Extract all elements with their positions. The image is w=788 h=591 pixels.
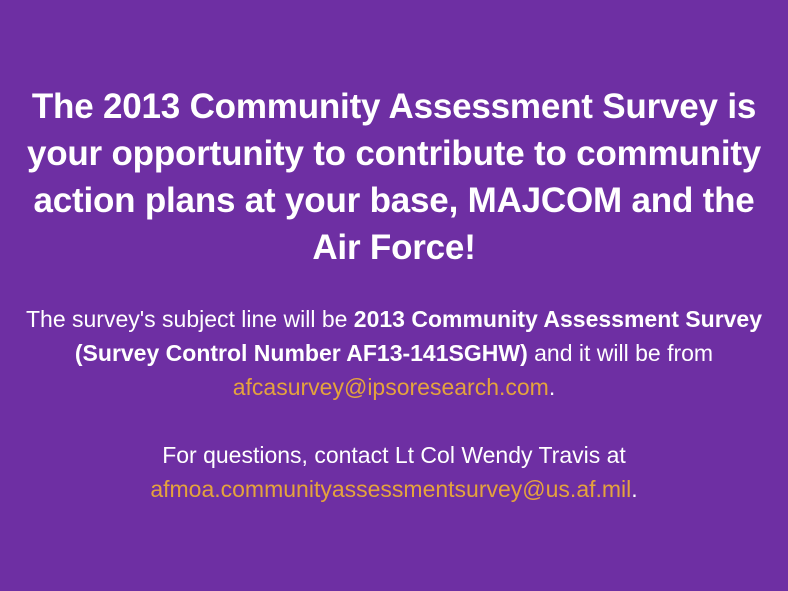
paragraph-spacer (16, 404, 772, 438)
contact-email-link[interactable]: afmoa.communityassessmentsurvey@us.af.mi… (150, 476, 631, 502)
paragraph-contact-line: For questions, contact Lt Col Wendy Trav… (16, 438, 772, 506)
paragraph-1-end-punctuation: . (549, 374, 555, 400)
slide-canvas: The 2013 Community Assessment Survey is … (0, 0, 788, 591)
headline-text: The 2013 Community Assessment Survey is … (24, 83, 764, 271)
body-content: The survey's subject line will be 2013 C… (16, 302, 772, 506)
paragraph-1-lead-text: The survey's subject line will be (26, 306, 354, 332)
paragraph-2-end-punctuation: . (631, 476, 637, 502)
paragraph-2-lead-text: For questions, contact Lt Col Wendy Trav… (162, 442, 626, 468)
paragraph-subject-line: The survey's subject line will be 2013 C… (16, 302, 772, 404)
survey-sender-email-link[interactable]: afcasurvey@ipsoresearch.com (233, 374, 549, 400)
paragraph-1-mid-text: and it will be from (528, 340, 713, 366)
